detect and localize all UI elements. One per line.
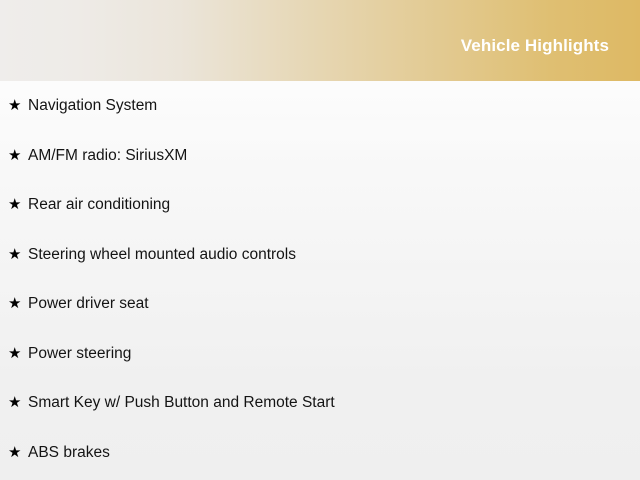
highlight-item-label: Power steering — [28, 345, 640, 362]
highlight-item-label: Smart Key w/ Push Button and Remote Star… — [28, 394, 640, 411]
highlight-item-label: Power driver seat — [28, 295, 640, 312]
highlight-item-label: Navigation System — [28, 97, 640, 114]
star-icon: ★ — [8, 98, 28, 113]
star-icon: ★ — [8, 148, 28, 163]
star-icon: ★ — [8, 247, 28, 262]
highlight-item: ★Navigation System — [0, 81, 640, 131]
vehicle-highlights-list: ★Navigation System★AM/FM radio: SiriusXM… — [0, 81, 640, 480]
highlight-item: ★Power steering — [0, 329, 640, 379]
star-icon: ★ — [8, 197, 28, 212]
page-header: Vehicle Highlights — [0, 0, 640, 81]
highlight-item: ★Power driver seat — [0, 279, 640, 329]
highlight-item: ★ABS brakes — [0, 428, 640, 478]
vehicle-highlights-page: Vehicle Highlights ★Navigation System★AM… — [0, 0, 640, 480]
highlight-item: ★Rear air conditioning — [0, 180, 640, 230]
highlight-item-label: AM/FM radio: SiriusXM — [28, 147, 640, 164]
highlight-item: ★Steering wheel mounted audio controls — [0, 230, 640, 280]
highlight-item: ★AM/FM radio: SiriusXM — [0, 131, 640, 181]
highlight-item-label: ABS brakes — [28, 444, 640, 461]
star-icon: ★ — [8, 445, 28, 460]
highlight-item: ★Smart Key w/ Push Button and Remote Sta… — [0, 378, 640, 428]
star-icon: ★ — [8, 296, 28, 311]
star-icon: ★ — [8, 395, 28, 410]
highlight-item-label: Steering wheel mounted audio controls — [28, 246, 640, 263]
star-icon: ★ — [8, 346, 28, 361]
page-title: Vehicle Highlights — [461, 37, 609, 54]
highlight-item-label: Rear air conditioning — [28, 196, 640, 213]
